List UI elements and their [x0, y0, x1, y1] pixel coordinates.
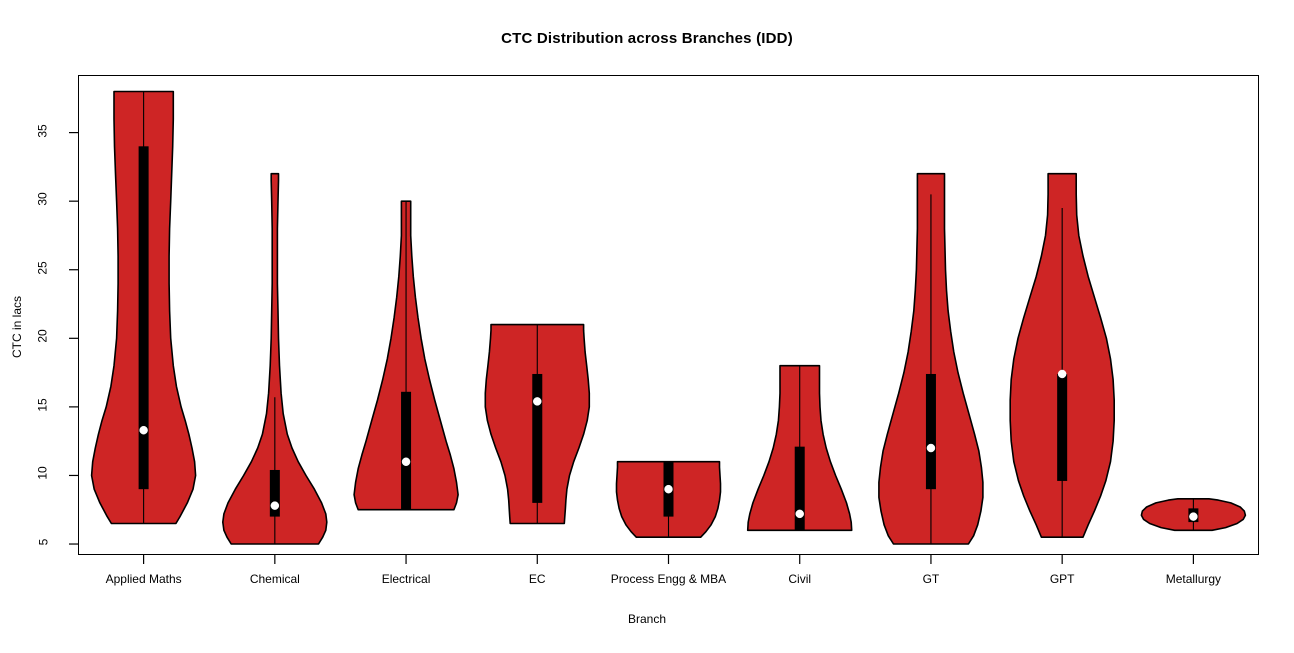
x-tick-label: Chemical: [250, 572, 300, 586]
x-tick-label: GT: [923, 572, 940, 586]
y-tick-label: 10: [26, 466, 60, 480]
y-axis-label-text: CTC in lacs: [10, 295, 24, 357]
y-tick-label: 15: [26, 398, 60, 412]
x-tick-label: Metallurgy: [1166, 572, 1221, 586]
x-tick-label: EC: [529, 572, 546, 586]
x-tick-label: GPT: [1050, 572, 1075, 586]
y-tick-label: 30: [26, 192, 60, 206]
y-tick-label-text: 30: [36, 192, 50, 205]
x-tick-label: Applied Maths: [106, 572, 182, 586]
y-tick-label-text: 25: [36, 261, 50, 274]
y-axis-label: CTC in lacs: [6, 0, 28, 653]
y-tick-label: 20: [26, 329, 60, 343]
y-tick-label-text: 5: [36, 539, 50, 546]
y-tick-label-text: 10: [36, 467, 50, 480]
y-tick-label-text: 15: [36, 398, 50, 411]
y-tick-label: 5: [26, 535, 60, 549]
y-tick-label-text: 35: [36, 124, 50, 137]
x-tick-label: Civil: [788, 572, 811, 586]
x-axis-label: Branch: [0, 612, 1294, 626]
plot-area: [78, 75, 1259, 555]
x-tick-label: Electrical: [382, 572, 431, 586]
y-tick-label-text: 20: [36, 330, 50, 343]
x-tick-label: Process Engg & MBA: [611, 572, 726, 586]
y-tick-label: 25: [26, 261, 60, 275]
page-title: CTC Distribution across Branches (IDD): [0, 30, 1294, 47]
violin-plot-figure: CTC Distribution across Branches (IDD) C…: [0, 0, 1294, 653]
y-tick-label: 35: [26, 124, 60, 138]
